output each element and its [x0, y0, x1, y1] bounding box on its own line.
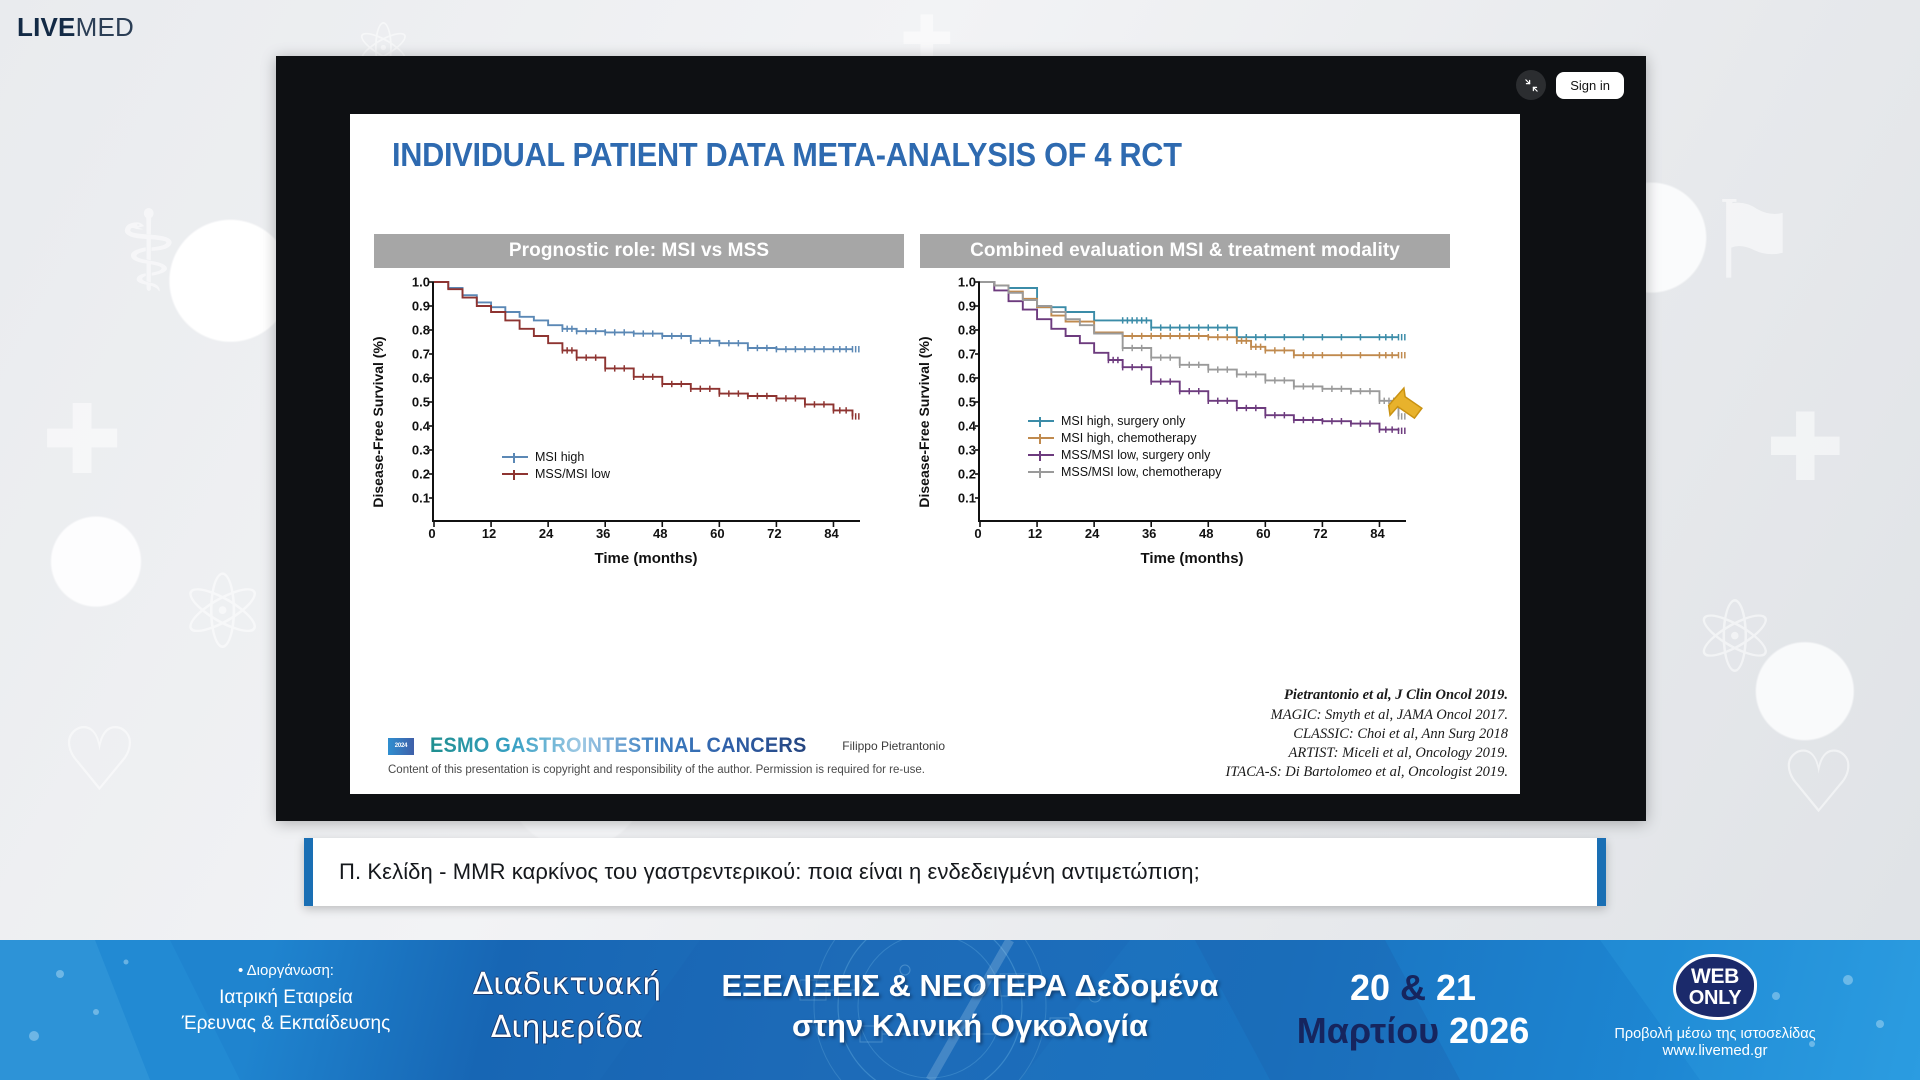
axis-tick-label: 0.7: [412, 347, 430, 362]
axis-tick-label: 0.3: [958, 443, 976, 458]
legend-item: MSS/MSI low, surgery only: [1028, 448, 1221, 462]
event-date-month-year: Μαρτίου 2026: [1278, 1009, 1548, 1052]
banner-event-date: 20 & 21 Μαρτίου 2026: [1278, 966, 1548, 1052]
axis-tick-label: 0.9: [412, 299, 430, 314]
event-type-line1: Διαδικτυακή: [452, 964, 682, 1007]
axis-tick-label: 0.1: [412, 491, 430, 506]
legend-item: MSI high: [502, 450, 610, 464]
axis-tick-label: 0.5: [958, 395, 976, 410]
logo-med-text: MED: [76, 12, 134, 42]
logo-live-text: LIVE: [17, 12, 76, 42]
axis-tick-label: 1.0: [958, 275, 976, 290]
citation-line: CLASSIC: Choi et al, Ann Surg 2018: [1226, 725, 1508, 744]
organizer-name-line2: Έρευνας & Εκπαίδευσης: [136, 1011, 436, 1037]
axis-tick-label: 0.2: [958, 467, 976, 482]
right-chart-curves: [980, 282, 1408, 522]
axis-tick-label: 0: [428, 526, 435, 541]
legend-swatch-icon: [502, 456, 528, 458]
citation-line: ITACA-S: Di Bartolomeo et al, Oncologist…: [1226, 763, 1508, 782]
legend-swatch-icon: [502, 473, 528, 475]
axis-tick-label: 48: [653, 526, 667, 541]
organizer-name-line1: Ιατρική Εταιρεία: [136, 985, 436, 1011]
axis-tick-label: 0.5: [412, 395, 430, 410]
session-caption-text: Π. Κελίδη - MMR καρκίνος του γαστρεντερι…: [339, 859, 1200, 885]
axis-tick-label: 12: [482, 526, 496, 541]
axis-tick-label: 0: [974, 526, 981, 541]
axis-tick-label: 60: [1256, 526, 1270, 541]
left-chart-curves: [434, 282, 862, 522]
axis-tick-label: 36: [1142, 526, 1156, 541]
player-top-controls: Sign in: [276, 56, 1646, 114]
legend-item: MSI high, chemotherapy: [1028, 431, 1221, 445]
kaplan-meier-chart-right: Disease-Free Survival (%) 1.00.90.80.70.…: [920, 282, 1450, 582]
axis-tick-label: 0.6: [958, 371, 976, 386]
survival-curve: [980, 282, 1398, 416]
esmo-author-name: Filippo Pietrantonio: [842, 739, 945, 753]
axis-tick-label: 12: [1028, 526, 1042, 541]
website-url[interactable]: www.livemed.gr: [1590, 1042, 1840, 1059]
right-chart-y-axis-label: Disease-Free Survival (%): [916, 316, 932, 528]
legend-label: MSI high, chemotherapy: [1061, 431, 1197, 445]
banner-organizer: • Διοργάνωση: Ιατρική Εταιρεία Έρευνας &…: [136, 962, 436, 1036]
livemed-logo[interactable]: LIVEMED: [17, 12, 134, 43]
session-caption-bar: Π. Κελίδη - MMR καρκίνος του γαστρεντερι…: [304, 838, 1606, 906]
event-date-day2: 21: [1436, 967, 1476, 1008]
axis-tick-label: 0.7: [958, 347, 976, 362]
legend-label: MSS/MSI low, surgery only: [1061, 448, 1210, 462]
axis-tick-label: 0.6: [412, 371, 430, 386]
esmo-copyright-notice: Content of this presentation is copyrigh…: [388, 764, 1028, 776]
legend-swatch-icon: [1028, 454, 1054, 456]
axis-tick-label: 60: [710, 526, 724, 541]
event-date-day1: 20: [1350, 967, 1390, 1008]
left-chart-y-axis-label: Disease-Free Survival (%): [370, 316, 386, 528]
event-title-line2: στην Κλινική Ογκολογία: [700, 1006, 1240, 1046]
axis-tick-label: 48: [1199, 526, 1213, 541]
left-chart-plot-area: [432, 282, 860, 522]
event-date-days: 20 & 21: [1278, 966, 1548, 1009]
event-date-month: Μαρτίου: [1297, 1010, 1439, 1051]
banner-event-type: Διαδικτυακή Διημερίδα: [452, 964, 682, 1049]
right-chart-legend: MSI high, surgery onlyMSI high, chemothe…: [1028, 414, 1221, 482]
axis-tick-label: 1.0: [412, 275, 430, 290]
legend-label: MSI high: [535, 450, 584, 464]
esmo-logo-row: 2024 ESMO GASTROINTESTINAL CANCERS Filip…: [388, 734, 1028, 758]
axis-tick-label: 0.4: [958, 419, 976, 434]
axis-tick-label: 0.8: [958, 323, 976, 338]
event-banner: • Διοργάνωση: Ιατρική Εταιρεία Έρευνας &…: [0, 940, 1920, 1080]
left-chart-x-ticks: 012243648607284: [432, 526, 860, 546]
axis-tick-label: 36: [596, 526, 610, 541]
axis-tick-label: 24: [539, 526, 553, 541]
web-only-badge-icon: WEB ONLY: [1673, 954, 1757, 1020]
axis-tick-label: 0.3: [412, 443, 430, 458]
axis-tick-label: 0.4: [412, 419, 430, 434]
chart-panel-right: Combined evaluation MSI & treatment moda…: [920, 234, 1450, 582]
survival-curve: [434, 282, 852, 349]
axis-tick-label: 0.9: [958, 299, 976, 314]
event-title-line1: ΕΞΕΛΙΞΕΙΣ & ΝΕΟΤΕΡΑ Δεδομένα: [700, 966, 1240, 1006]
legend-item: MSI high, surgery only: [1028, 414, 1221, 428]
left-chart-y-ticks: 1.00.90.80.70.60.50.40.30.20.1: [396, 282, 430, 522]
legend-item: MSS/MSI low: [502, 467, 610, 481]
legend-swatch-icon: [1028, 437, 1054, 439]
panel-right-header: Combined evaluation MSI & treatment moda…: [920, 234, 1450, 268]
yellow-arrow-annotation-icon: [1372, 378, 1432, 438]
left-chart-x-axis-label: Time (months): [432, 550, 860, 567]
exit-fullscreen-icon[interactable]: [1516, 70, 1546, 100]
survival-curve: [980, 282, 1398, 431]
legend-item: MSS/MSI low, chemotherapy: [1028, 465, 1221, 479]
panel-left-header: Prognostic role: MSI vs MSS: [374, 234, 904, 268]
legend-label: MSI high, surgery only: [1061, 414, 1185, 428]
legend-swatch-icon: [1028, 420, 1054, 422]
legend-label: MSS/MSI low, chemotherapy: [1061, 465, 1221, 479]
right-chart-x-axis-label: Time (months): [978, 550, 1406, 567]
banner-web-only: WEB ONLY Προβολή μέσω της ιστοσελίδας ww…: [1590, 954, 1840, 1059]
organizer-label: • Διοργάνωση:: [136, 962, 436, 979]
axis-tick-label: 84: [1370, 526, 1384, 541]
kaplan-meier-chart-left: Disease-Free Survival (%) 1.00.90.80.70.…: [374, 282, 904, 582]
web-badge-line1: WEB: [1691, 966, 1739, 988]
video-player[interactable]: Sign in INDIVIDUAL PATIENT DATA META-ANA…: [276, 56, 1646, 821]
website-label: Προβολή μέσω της ιστοσελίδας: [1590, 1026, 1840, 1042]
legend-label: MSS/MSI low: [535, 467, 610, 481]
esmo-mark-icon: 2024: [388, 738, 414, 755]
esmo-footer: 2024 ESMO GASTROINTESTINAL CANCERS Filip…: [388, 734, 1028, 776]
right-chart-y-ticks: 1.00.90.80.70.60.50.40.30.20.1: [942, 282, 976, 522]
axis-tick-label: 0.2: [412, 467, 430, 482]
right-chart-x-ticks: 012243648607284: [978, 526, 1406, 546]
axis-tick-label: 84: [824, 526, 838, 541]
legend-swatch-icon: [1028, 471, 1054, 473]
citation-line: ARTIST: Miceli et al, Oncology 2019.: [1226, 744, 1508, 763]
citations-block: Pietrantonio et al, J Clin Oncol 2019.MA…: [1226, 686, 1508, 782]
axis-tick-label: 72: [1313, 526, 1327, 541]
citation-line: Pietrantonio et al, J Clin Oncol 2019.: [1226, 686, 1508, 705]
event-date-ampersand: &: [1400, 967, 1426, 1008]
slide-title: INDIVIDUAL PATIENT DATA META-ANALYSIS OF…: [392, 136, 1182, 174]
sign-in-button[interactable]: Sign in: [1556, 72, 1624, 99]
esmo-congress-name: ESMO GASTROINTESTINAL CANCERS: [430, 734, 806, 758]
web-badge-line2: ONLY: [1689, 988, 1742, 1009]
event-date-year: 2026: [1449, 1010, 1529, 1051]
right-chart-plot-area: [978, 282, 1406, 522]
axis-tick-label: 0.1: [958, 491, 976, 506]
axis-tick-label: 72: [767, 526, 781, 541]
chart-panel-left: Prognostic role: MSI vs MSS Disease-Free…: [374, 234, 904, 582]
banner-event-title: ΕΞΕΛΙΞΕΙΣ & ΝΕΟΤΕΡΑ Δεδομένα στην Κλινικ…: [700, 966, 1240, 1047]
axis-tick-label: 24: [1085, 526, 1099, 541]
presentation-slide: INDIVIDUAL PATIENT DATA META-ANALYSIS OF…: [350, 114, 1520, 794]
event-type-line2: Διημερίδα: [452, 1007, 682, 1050]
citation-line: MAGIC: Smyth et al, JAMA Oncol 2017.: [1226, 706, 1508, 725]
left-chart-legend: MSI highMSS/MSI low: [502, 450, 610, 484]
axis-tick-label: 0.8: [412, 323, 430, 338]
